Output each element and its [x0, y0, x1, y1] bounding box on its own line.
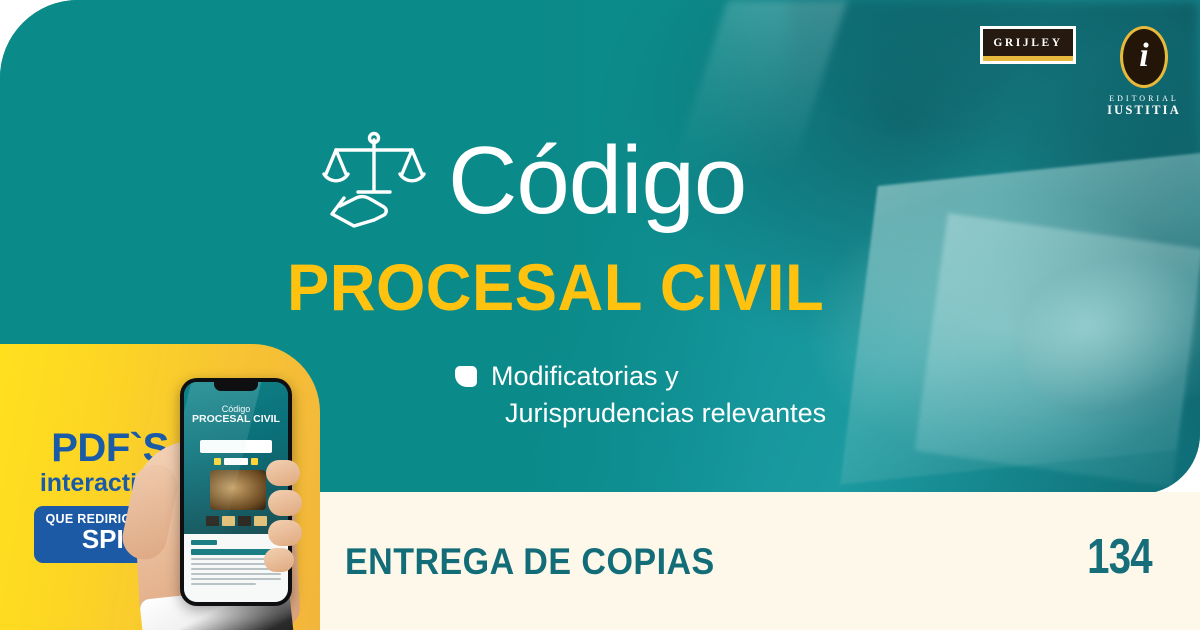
iustitia-label-editorial: EDITORIAL	[1109, 94, 1179, 103]
title-main-row: Código	[318, 128, 746, 234]
phone-cover-icon-row	[196, 516, 276, 526]
description-line-2: Jurisprudencias relevantes	[505, 398, 826, 428]
promotional-banner: GRIJLEY i EDITORIAL IUSTITIA	[0, 0, 1200, 630]
phone-cover-icon	[206, 516, 219, 526]
hand-finger	[266, 460, 300, 486]
phone-doc-heading	[191, 540, 217, 545]
page-title: Código	[448, 133, 746, 229]
description-line-1: Modificatorias y	[491, 361, 679, 391]
footer-topic-label: ENTREGA DE COPIAS	[345, 541, 715, 583]
phone-doc-text-line	[191, 583, 256, 585]
phone-notch	[214, 382, 258, 391]
phone-cover-chip	[214, 458, 221, 465]
hand-holding-phone: Código PROCESAL CIVIL	[118, 378, 320, 630]
iustitia-oval-emblem: i	[1120, 26, 1168, 88]
bullet-leaf-icon	[455, 366, 477, 387]
phone-cover-icon	[222, 516, 235, 526]
issue-number: 134	[1087, 529, 1152, 585]
grijley-logo-plate: GRIJLEY	[983, 29, 1073, 56]
scales-of-justice-icon	[318, 128, 430, 234]
hand-finger	[268, 520, 302, 546]
phone-cover-icon	[238, 516, 251, 526]
hand-finger	[268, 490, 302, 516]
phone-cover-icon	[254, 516, 267, 526]
page-subtitle: PROCESAL CIVIL	[287, 254, 824, 320]
grijley-logo[interactable]: GRIJLEY	[980, 26, 1076, 64]
promo-panel: PDF`S interactivos QUE REDIRIGEN AL: SPI…	[0, 344, 320, 630]
grijley-logo-accent-bar	[983, 56, 1073, 61]
phone-cover-title-bold: PROCESAL CIVIL	[184, 414, 288, 425]
iustitia-label-iustitia: IUSTITIA	[1107, 103, 1181, 118]
phone-cover-chip-row	[204, 458, 268, 465]
phone-cover-photo	[210, 470, 266, 510]
phone-cover-chip-wide	[224, 458, 248, 465]
description-block: Modificatorias y Jurisprudencias relevan…	[455, 358, 826, 433]
description-lines: Modificatorias y Jurisprudencias relevan…	[491, 358, 826, 433]
phone-cover-chip	[251, 458, 258, 465]
phone-doc-text-line	[191, 578, 281, 580]
logo-group: GRIJLEY i EDITORIAL IUSTITIA	[980, 26, 1186, 118]
iustitia-monogram: i	[1139, 39, 1148, 73]
grijley-logo-text: GRIJLEY	[993, 37, 1062, 49]
phone-cover-badge	[200, 440, 272, 453]
phone-doc-text-line	[191, 573, 281, 575]
editorial-iustitia-logo[interactable]: i EDITORIAL IUSTITIA	[1102, 26, 1186, 118]
hand-finger	[264, 548, 294, 572]
